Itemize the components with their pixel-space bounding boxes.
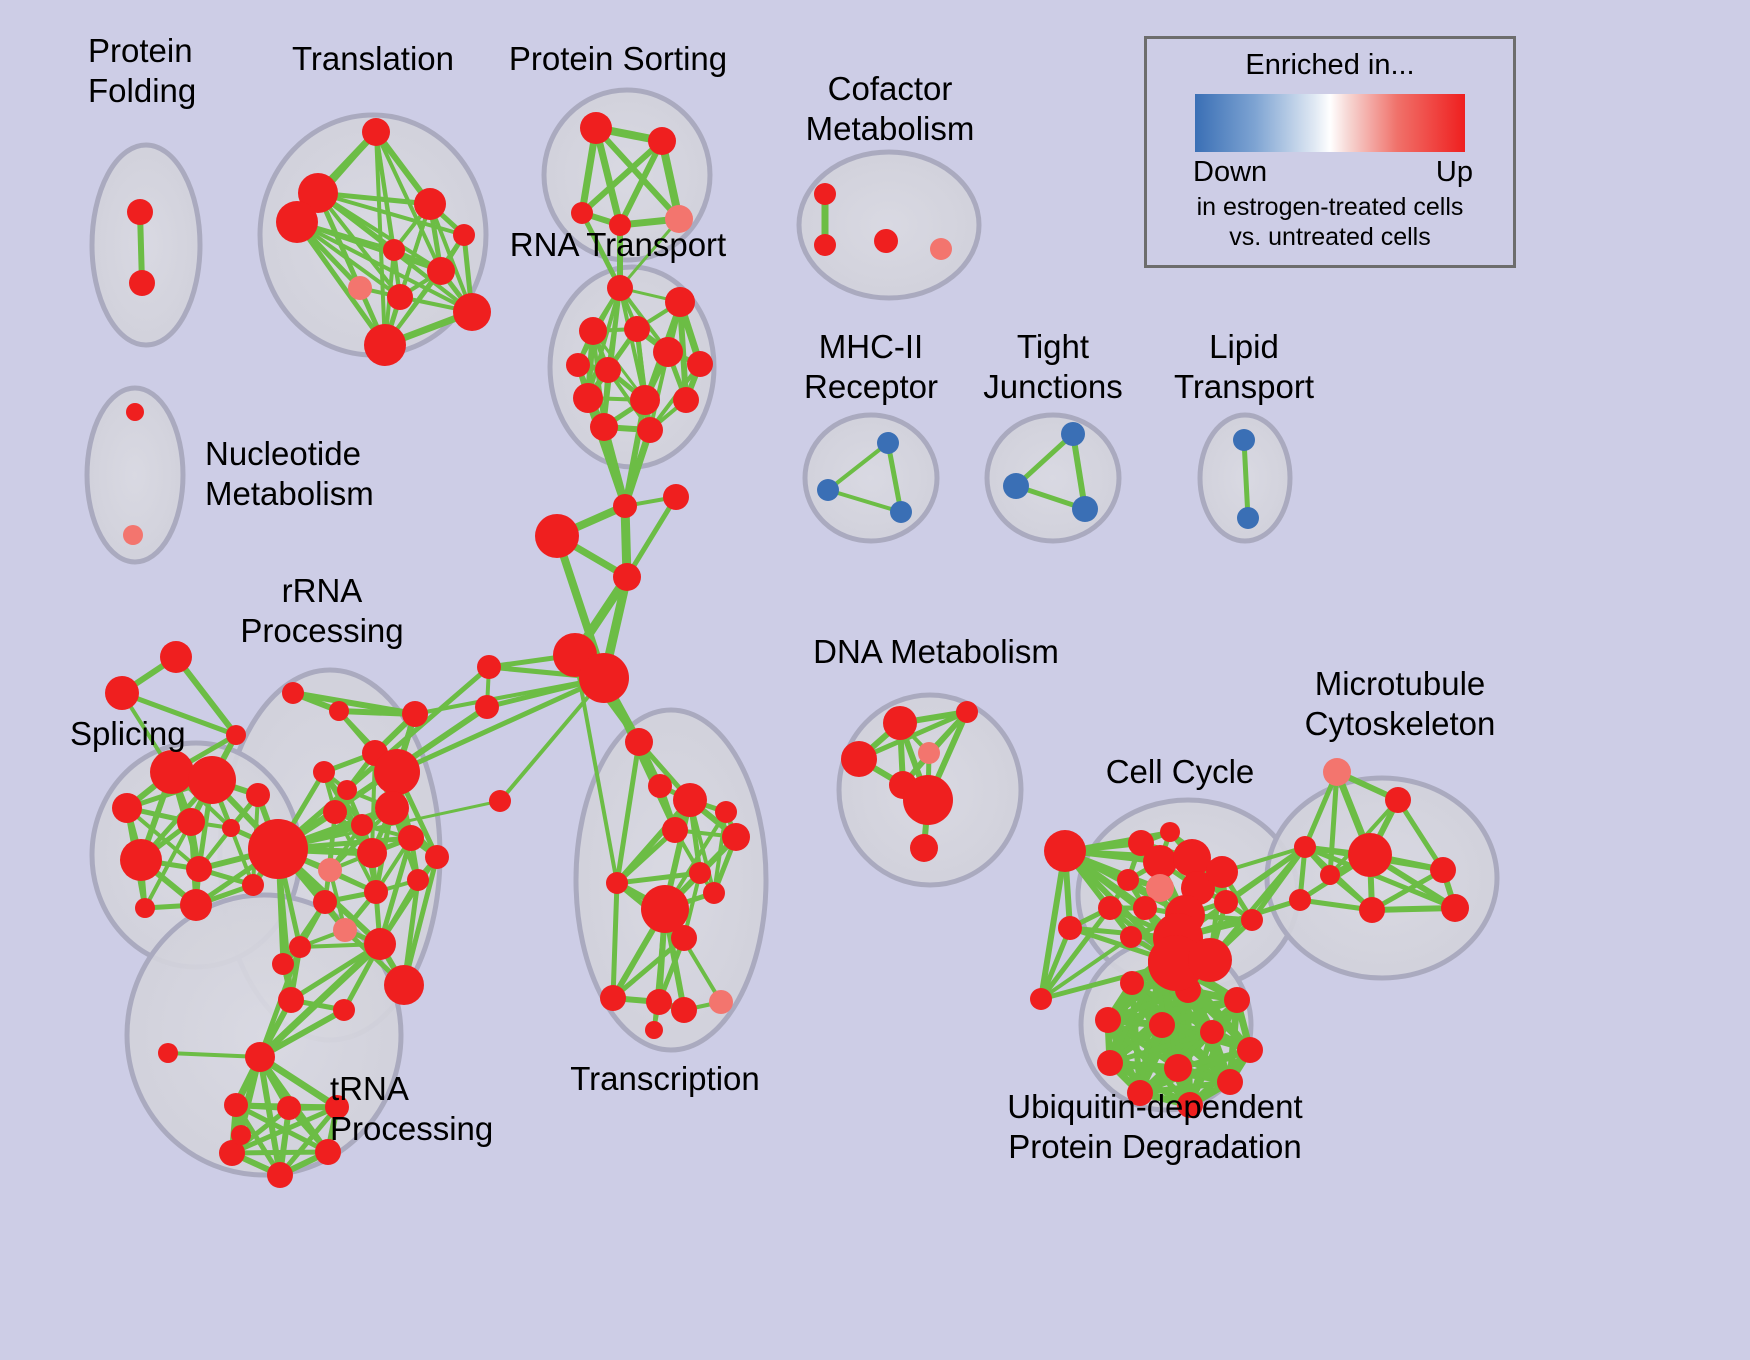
network-node[interactable] [1072, 496, 1098, 522]
network-node[interactable] [477, 655, 501, 679]
network-node[interactable] [112, 793, 142, 823]
network-node[interactable] [351, 814, 373, 836]
network-node[interactable] [282, 682, 304, 704]
network-node[interactable] [606, 872, 628, 894]
network-node[interactable] [1359, 897, 1385, 923]
network-node[interactable] [323, 800, 347, 824]
network-node[interactable] [571, 202, 593, 224]
network-node[interactable] [129, 270, 155, 296]
network-node[interactable] [318, 858, 342, 882]
cluster-hull-protein-folding[interactable] [92, 145, 200, 345]
network-node[interactable] [1441, 894, 1469, 922]
network-node[interactable] [1385, 787, 1411, 813]
network-node[interactable] [1214, 890, 1238, 914]
cluster-label-protein-folding: ProteinFolding [88, 32, 196, 109]
network-node[interactable] [364, 324, 406, 366]
network-node[interactable] [127, 199, 153, 225]
network-node[interactable] [641, 885, 689, 933]
network-node[interactable] [242, 874, 264, 896]
network-node[interactable] [1030, 988, 1052, 1010]
network-node[interactable] [595, 357, 621, 383]
network-node[interactable] [313, 761, 335, 783]
network-node[interactable] [150, 750, 194, 794]
network-node[interactable] [671, 997, 697, 1023]
cluster-label-mhc-ii-receptor: MHC-IIReceptor [804, 328, 938, 405]
network-node[interactable] [126, 403, 144, 421]
network-node[interactable] [817, 479, 839, 501]
network-edge [232, 1152, 328, 1153]
network-node[interactable] [1237, 507, 1259, 529]
network-node[interactable] [930, 238, 952, 260]
network-node[interactable] [226, 725, 246, 745]
network-node[interactable] [590, 413, 618, 441]
network-node[interactable] [402, 701, 428, 727]
network-node[interactable] [673, 387, 699, 413]
network-node[interactable] [910, 834, 938, 862]
network-node[interactable] [105, 676, 139, 710]
network-node[interactable] [814, 234, 836, 256]
network-node[interactable] [333, 999, 355, 1021]
network-node[interactable] [687, 351, 713, 377]
network-node[interactable] [890, 501, 912, 523]
network-node[interactable] [662, 817, 688, 843]
network-node[interactable] [398, 825, 424, 851]
network-node[interactable] [475, 695, 499, 719]
network-node[interactable] [663, 484, 689, 510]
legend-color-scale [1195, 94, 1465, 152]
legend-panel: Enriched in... Down Up in estrogen-treat… [1144, 36, 1516, 268]
network-node[interactable] [624, 316, 650, 342]
network-node[interactable] [607, 275, 633, 301]
cluster-label-translation: Translation [292, 40, 454, 77]
cluster-label-cofactor-metabolism: CofactorMetabolism [806, 70, 975, 147]
legend-high-label: Up [1436, 156, 1473, 189]
network-node[interactable] [333, 918, 357, 942]
network-node[interactable] [414, 188, 446, 220]
network-node[interactable] [1237, 1037, 1263, 1063]
network-node[interactable] [375, 791, 409, 825]
network-node[interactable] [1294, 836, 1316, 858]
network-node[interactable] [1206, 856, 1238, 888]
network-node[interactable] [272, 953, 294, 975]
network-node[interactable] [1164, 1054, 1192, 1082]
network-node[interactable] [348, 276, 372, 300]
network-node[interactable] [289, 936, 311, 958]
network-node[interactable] [709, 990, 733, 1014]
network-node[interactable] [1289, 889, 1311, 911]
network-node[interactable] [387, 284, 413, 310]
cluster-label-splicing: Splicing [70, 715, 186, 752]
network-node[interactable] [1061, 422, 1085, 446]
network-node[interactable] [1120, 971, 1144, 995]
network-node[interactable] [1323, 758, 1351, 786]
network-node[interactable] [453, 293, 491, 331]
network-node[interactable] [1348, 833, 1392, 877]
network-node[interactable] [1044, 830, 1086, 872]
cluster-label-microtubule-cytoskeleton: MicrotubuleCytoskeleton [1305, 665, 1496, 742]
network-node[interactable] [1149, 1012, 1175, 1038]
network-node[interactable] [1430, 857, 1456, 883]
network-node[interactable] [715, 801, 737, 823]
network-node[interactable] [673, 783, 707, 817]
network-node[interactable] [883, 706, 917, 740]
network-node[interactable] [1160, 822, 1180, 842]
network-node[interactable] [874, 229, 898, 253]
network-node[interactable] [135, 898, 155, 918]
cluster-label-transcription: Transcription [570, 1060, 760, 1097]
network-node[interactable] [383, 239, 405, 261]
network-node[interactable] [653, 337, 683, 367]
network-node[interactable] [1241, 909, 1263, 931]
network-node[interactable] [648, 127, 676, 155]
network-node[interactable] [177, 808, 205, 836]
network-node[interactable] [222, 819, 240, 837]
network-node[interactable] [535, 514, 579, 558]
network-node[interactable] [625, 728, 653, 756]
network-node[interactable] [903, 775, 953, 825]
network-node[interactable] [364, 880, 388, 904]
legend-low-label: Down [1193, 156, 1267, 189]
network-node[interactable] [703, 882, 725, 904]
cluster-label-cell-cycle: Cell Cycle [1106, 753, 1255, 790]
cluster-label-tight-junctions: TightJunctions [983, 328, 1122, 405]
network-node[interactable] [357, 838, 387, 868]
cluster-label-rrna-processing: rRNAProcessing [240, 572, 403, 649]
network-node[interactable] [1097, 1050, 1123, 1076]
network-node[interactable] [313, 890, 337, 914]
network-node[interactable] [566, 353, 590, 377]
network-node[interactable] [384, 965, 424, 1005]
network-node[interactable] [648, 774, 672, 798]
cluster-hull-mhc-ii-receptor[interactable] [805, 415, 937, 541]
network-node[interactable] [267, 1162, 293, 1188]
network-node[interactable] [600, 985, 626, 1011]
network-node[interactable] [1143, 845, 1177, 879]
network-node[interactable] [646, 989, 672, 1015]
network-node[interactable] [120, 839, 162, 881]
network-node[interactable] [425, 845, 449, 869]
network-node[interactable] [580, 112, 612, 144]
network-node[interactable] [329, 701, 349, 721]
network-node[interactable] [489, 790, 511, 812]
network-node[interactable] [1117, 869, 1139, 891]
network-node[interactable] [245, 1042, 275, 1072]
network-node[interactable] [1098, 896, 1122, 920]
network-node[interactable] [613, 563, 641, 591]
network-node[interactable] [277, 1096, 301, 1120]
cluster-label-dna-metabolism: DNA Metabolism [813, 633, 1059, 670]
network-node[interactable] [841, 741, 877, 777]
network-node[interactable] [689, 862, 711, 884]
network-node[interactable] [407, 869, 429, 891]
network-node[interactable] [453, 224, 475, 246]
network-node[interactable] [123, 525, 143, 545]
network-node[interactable] [1173, 839, 1211, 877]
network-node[interactable] [956, 701, 978, 723]
network-node[interactable] [579, 317, 607, 345]
network-edge [397, 678, 604, 772]
network-figure: ProteinFoldingTranslationProtein Sorting… [0, 0, 1750, 1360]
network-node[interactable] [160, 641, 192, 673]
legend-subtitle-line-2: vs. untreated cells [1165, 223, 1495, 253]
network-node[interactable] [637, 417, 663, 443]
cluster-label-lipid-transport: LipidTransport [1174, 328, 1314, 405]
network-node[interactable] [1320, 865, 1340, 885]
network-node[interactable] [248, 819, 308, 879]
network-node[interactable] [231, 1125, 251, 1145]
network-node[interactable] [1095, 1007, 1121, 1033]
network-node[interactable] [374, 749, 420, 795]
network-node[interactable] [337, 780, 357, 800]
network-node[interactable] [364, 928, 396, 960]
cluster-label-ubiquitin-protein-degradation: Ubiquitin-dependentProtein Degradation [1007, 1088, 1302, 1165]
legend-title: Enriched in... [1165, 49, 1495, 82]
network-node[interactable] [1003, 473, 1029, 499]
network-node[interactable] [645, 1021, 663, 1039]
network-node[interactable] [918, 742, 940, 764]
network-node[interactable] [186, 856, 212, 882]
network-node[interactable] [814, 183, 836, 205]
network-node[interactable] [1233, 429, 1255, 451]
cluster-label-protein-sorting: Protein Sorting [509, 40, 727, 77]
network-node[interactable] [246, 783, 270, 807]
network-node[interactable] [1058, 916, 1082, 940]
network-node[interactable] [188, 756, 236, 804]
network-node[interactable] [1200, 1020, 1224, 1044]
network-node[interactable] [224, 1093, 248, 1117]
cluster-label-rna-transport: RNA Transport [510, 226, 726, 263]
network-node[interactable] [613, 494, 637, 518]
network-node[interactable] [158, 1043, 178, 1063]
network-node[interactable] [573, 383, 603, 413]
network-node[interactable] [630, 385, 660, 415]
network-node[interactable] [278, 987, 304, 1013]
cluster-label-nucleotide-metabolism: NucleotideMetabolism [205, 435, 374, 512]
network-node[interactable] [877, 432, 899, 454]
network-node[interactable] [665, 287, 695, 317]
network-node[interactable] [362, 118, 390, 146]
legend-subtitle-line-1: in estrogen-treated cells [1165, 193, 1495, 223]
network-node[interactable] [579, 653, 629, 703]
network-node[interactable] [427, 257, 455, 285]
network-node[interactable] [180, 889, 212, 921]
network-node[interactable] [722, 823, 750, 851]
network-node[interactable] [1120, 926, 1142, 948]
network-node[interactable] [1188, 938, 1232, 982]
network-node[interactable] [276, 201, 318, 243]
network-node[interactable] [1133, 896, 1157, 920]
network-node[interactable] [1224, 987, 1250, 1013]
